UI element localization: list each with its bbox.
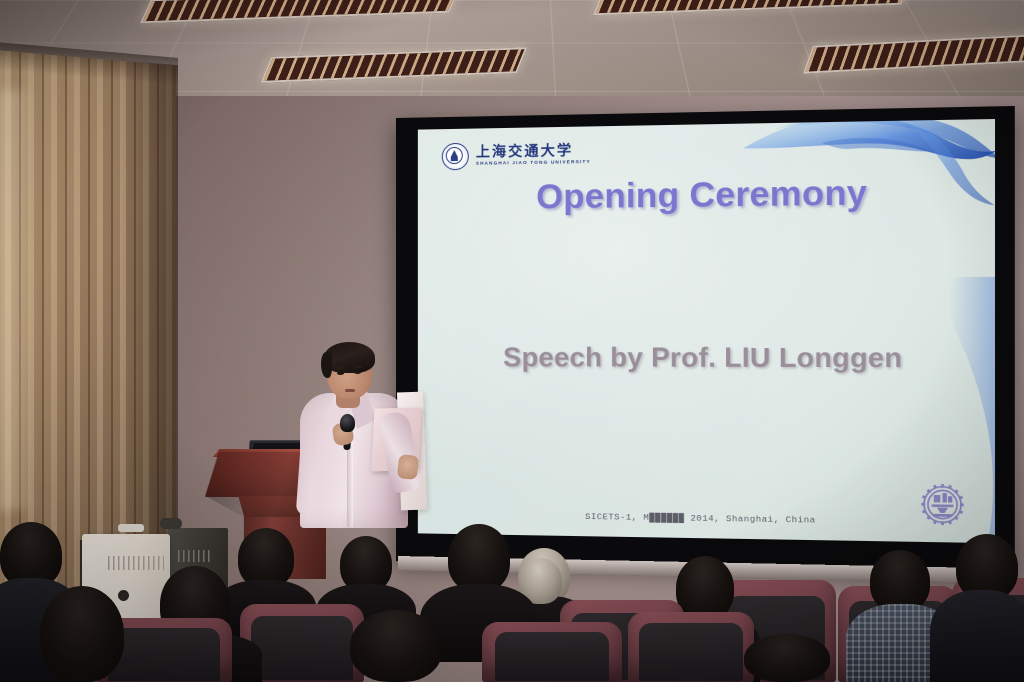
audience-head-foreground bbox=[40, 586, 124, 682]
university-logo-text: 上海交通大学 SHANGHAI JIAO TONG UNIVERSITY bbox=[476, 144, 591, 167]
speaker-mouth bbox=[345, 389, 355, 392]
auditorium-seat bbox=[482, 622, 622, 682]
slide-title: Opening Ceremony bbox=[418, 172, 995, 219]
curtain-light-glow bbox=[0, 90, 36, 510]
cabinet-knob bbox=[118, 590, 129, 601]
university-name-chinese: 上海交通大学 bbox=[476, 144, 591, 160]
auditorium-seat bbox=[628, 612, 754, 682]
audience-head bbox=[448, 524, 510, 592]
audience-shoulders bbox=[930, 590, 1024, 682]
audience-head-foreground bbox=[350, 610, 442, 682]
university-logo: 上海交通大学 SHANGHAI JIAO TONG UNIVERSITY bbox=[442, 141, 591, 171]
audience-head bbox=[676, 556, 734, 620]
conference-hall-photo: 上海交通大学 SHANGHAI JIAO TONG UNIVERSITY Ope… bbox=[0, 0, 1024, 682]
slide-subtitle: Speech by Prof. LIU Longgen bbox=[418, 342, 995, 375]
slide-footer: SICETS-1, M██████ 2014, Shanghai, China bbox=[418, 509, 995, 528]
audience-head bbox=[870, 550, 930, 612]
microphone-icon bbox=[340, 414, 355, 432]
university-name-english: SHANGHAI JIAO TONG UNIVERSITY bbox=[476, 160, 591, 166]
audience-head bbox=[238, 528, 294, 588]
sjtu-seal-icon bbox=[442, 143, 469, 171]
speaker-eye-right bbox=[354, 371, 361, 374]
projection-screen: 上海交通大学 SHANGHAI JIAO TONG UNIVERSITY Ope… bbox=[396, 106, 1015, 573]
rack-vent bbox=[178, 550, 212, 562]
speaker-hand-holding-paper bbox=[397, 454, 419, 480]
cabinet-vent bbox=[108, 556, 164, 570]
gear-emblem-icon bbox=[916, 479, 968, 530]
audience-head-foreground bbox=[744, 634, 830, 682]
speaker-hair-side bbox=[321, 352, 332, 378]
presentation-slide: 上海交通大学 SHANGHAI JIAO TONG UNIVERSITY Ope… bbox=[418, 119, 995, 543]
rack-top-item bbox=[160, 518, 182, 529]
cabinet-top-item bbox=[118, 524, 144, 532]
speaker-eye-left bbox=[337, 372, 344, 375]
